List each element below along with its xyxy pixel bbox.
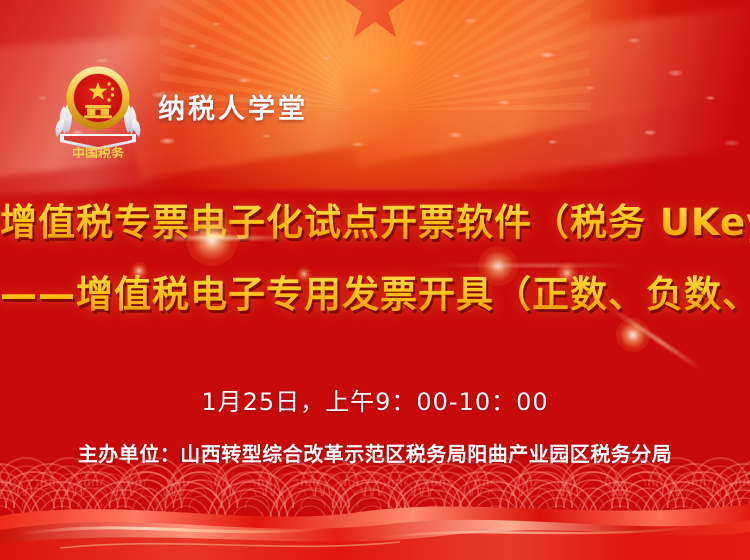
sparkle-dot: [322, 56, 331, 60]
title-block: 增值税专票电子化试点开票软件（税务 UKey 版） ——增值税电子专用发票开具（…: [0, 196, 750, 322]
sparkle-dot: [498, 100, 510, 105]
poster-header: 中国税务 纳税人学堂: [52, 58, 308, 158]
poster-canvas: 中国税务 纳税人学堂 增值税专票电子化试点开票软件（税务 UKey 版） ——增…: [0, 0, 750, 560]
sparkle-dot: [548, 140, 557, 144]
sparkle-dot: [628, 38, 640, 43]
event-datetime: 1月25日，上午9：00-10：00: [0, 382, 750, 417]
china-taxation-emblem-icon: 中国税务: [52, 58, 144, 158]
sparkle-dot: [452, 74, 461, 78]
sparkle-dot: [368, 88, 380, 93]
sparkle-dot: [212, 22, 221, 26]
sparkle-dot: [724, 140, 739, 146]
emblem-caption: 中国税务: [72, 146, 125, 158]
sparkle-dot: [586, 86, 595, 90]
sparkle-dot: [668, 70, 683, 76]
sparkle-dot: [352, 142, 364, 147]
brand-title: 纳税人学堂: [158, 87, 308, 130]
sparkle-dot: [448, 132, 463, 138]
sparkle-dot: [38, 96, 47, 100]
sparkle-dot: [706, 96, 715, 100]
sparkle-dot: [188, 44, 197, 48]
silk-ribbon-decor: [0, 482, 750, 560]
poster-title-line-2: ——增值税电子专用发票开具（正数、负数、作废）: [0, 268, 750, 322]
sparkle-dot: [412, 40, 427, 46]
sparkle-dot: [644, 130, 656, 135]
sparkle-dot: [540, 52, 555, 58]
poster-title-line-1: 增值税专票电子化试点开票软件（税务 UKey 版）: [0, 196, 750, 250]
sparkle-dot: [464, 18, 476, 23]
